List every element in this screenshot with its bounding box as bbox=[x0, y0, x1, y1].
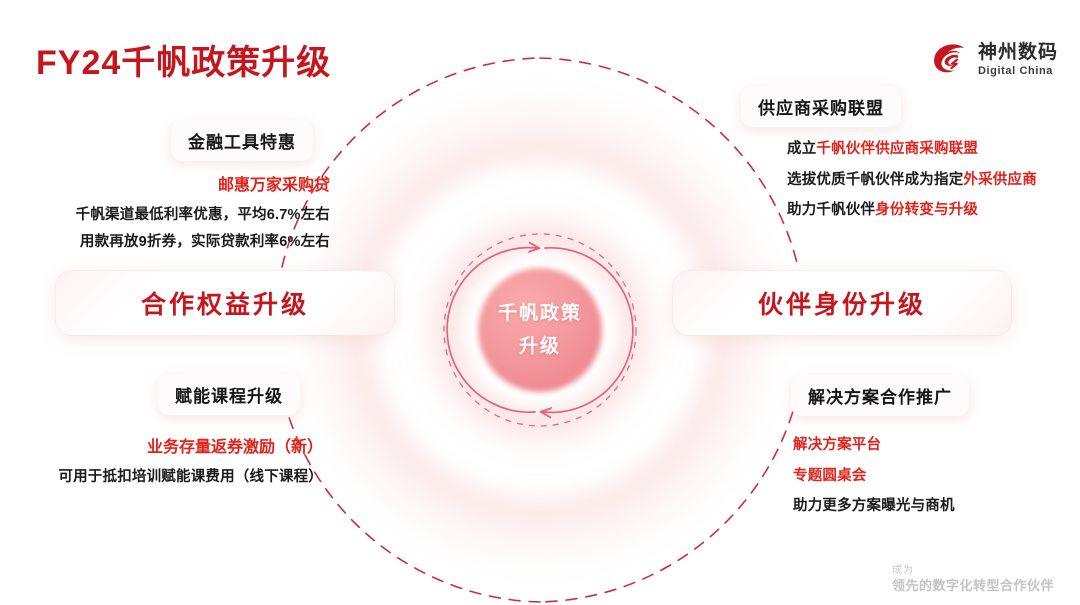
chip-bottom-right[interactable]: 解决方案合作推广 bbox=[791, 375, 969, 416]
text-segment: 身份转变与升级 bbox=[875, 202, 978, 218]
chip-label: 供应商采购联盟 bbox=[758, 94, 884, 119]
chip-top-right[interactable]: 供应商采购联盟 bbox=[741, 86, 901, 127]
text-segment: 千帆伙伴供应商采购联盟 bbox=[816, 141, 978, 157]
text-line: 专题圆桌会 bbox=[793, 469, 1073, 484]
chip-label: 解决方案合作推广 bbox=[808, 383, 952, 408]
text-line: 成立千帆伙伴供应商采购联盟 bbox=[787, 142, 1077, 157]
chip-label: 赋能课程升级 bbox=[175, 382, 283, 407]
chip-bottom-left[interactable]: 赋能课程升级 bbox=[158, 374, 300, 415]
text-segment: 解决方案平台 bbox=[793, 437, 881, 453]
text-segment: 助力更多方案曝光与商机 bbox=[793, 498, 955, 514]
watermark: 成为 领先的数字化转型合作伙伴 bbox=[892, 564, 1054, 595]
text-block-bottom-right: 解决方案平台专题圆桌会助力更多方案曝光与商机 bbox=[793, 438, 1073, 514]
text-segment: 外采供应商 bbox=[963, 172, 1037, 188]
pillar-label-left: 合作权益升级 bbox=[141, 285, 309, 321]
text-line: 助力更多方案曝光与商机 bbox=[793, 499, 1073, 514]
text-block-top-left: 邮惠万家采购贷千帆渠道最低利率优惠，平均6.7%左右用款再放9折券，实际贷款利率… bbox=[0, 178, 330, 249]
chip-label: 金融工具特惠 bbox=[188, 128, 296, 153]
text-line: 选拔优质千帆伙伴成为指定外采供应商 bbox=[787, 173, 1077, 188]
pillar-card-left[interactable]: 合作权益升级 bbox=[56, 271, 394, 335]
watermark-line-2: 领先的数字化转型合作伙伴 bbox=[892, 577, 1054, 595]
page-title: FY24千帆政策升级 bbox=[36, 35, 331, 84]
brand-text: 神州数码 Digital China bbox=[978, 43, 1058, 77]
pillar-card-right[interactable]: 伙伴身份升级 bbox=[673, 271, 1011, 335]
digital-china-swoosh-logo-icon bbox=[931, 42, 969, 78]
center-label-line-2: 升级 bbox=[460, 330, 620, 363]
chip-top-left[interactable]: 金融工具特惠 bbox=[171, 120, 313, 161]
text-segment: 专题圆桌会 bbox=[793, 468, 867, 484]
text-line: 千帆渠道最低利率优惠，平均6.7%左右 bbox=[0, 208, 330, 223]
text-line: 业务存量返券激励（新） bbox=[0, 440, 323, 456]
text-block-top-right: 成立千帆伙伴供应商采购联盟选拔优质千帆伙伴成为指定外采供应商助力千帆伙伴身份转变… bbox=[787, 142, 1077, 218]
center-core-label: 千帆政策 升级 bbox=[460, 297, 620, 364]
center-label-line-1: 千帆政策 bbox=[460, 297, 620, 330]
text-segment: 助力千帆伙伴 bbox=[787, 202, 875, 218]
pillar-label-right: 伙伴身份升级 bbox=[758, 285, 926, 321]
brand-name-en: Digital China bbox=[978, 66, 1058, 77]
text-line: 助力千帆伙伴身份转变与升级 bbox=[787, 203, 1077, 218]
brand-name-cn: 神州数码 bbox=[978, 43, 1058, 62]
slide-canvas: 千帆政策 升级 FY24千帆政策升级 神州数码 Digital China 合作… bbox=[0, 0, 1080, 605]
brand-logo: 神州数码 Digital China bbox=[931, 42, 1058, 78]
text-segment: 成立 bbox=[787, 141, 816, 157]
text-line: 邮惠万家采购贷 bbox=[0, 178, 330, 194]
text-line: 可用于抵扣培训赋能课费用（线下课程） bbox=[0, 470, 323, 485]
text-line: 用款再放9折券，实际贷款利率6%左右 bbox=[0, 235, 330, 250]
text-line: 解决方案平台 bbox=[793, 438, 1073, 453]
text-block-bottom-left: 业务存量返券激励（新）可用于抵扣培训赋能课费用（线下课程） bbox=[0, 440, 323, 485]
text-segment: 选拔优质千帆伙伴成为指定 bbox=[787, 172, 963, 188]
watermark-line-1: 成为 bbox=[892, 564, 1054, 578]
